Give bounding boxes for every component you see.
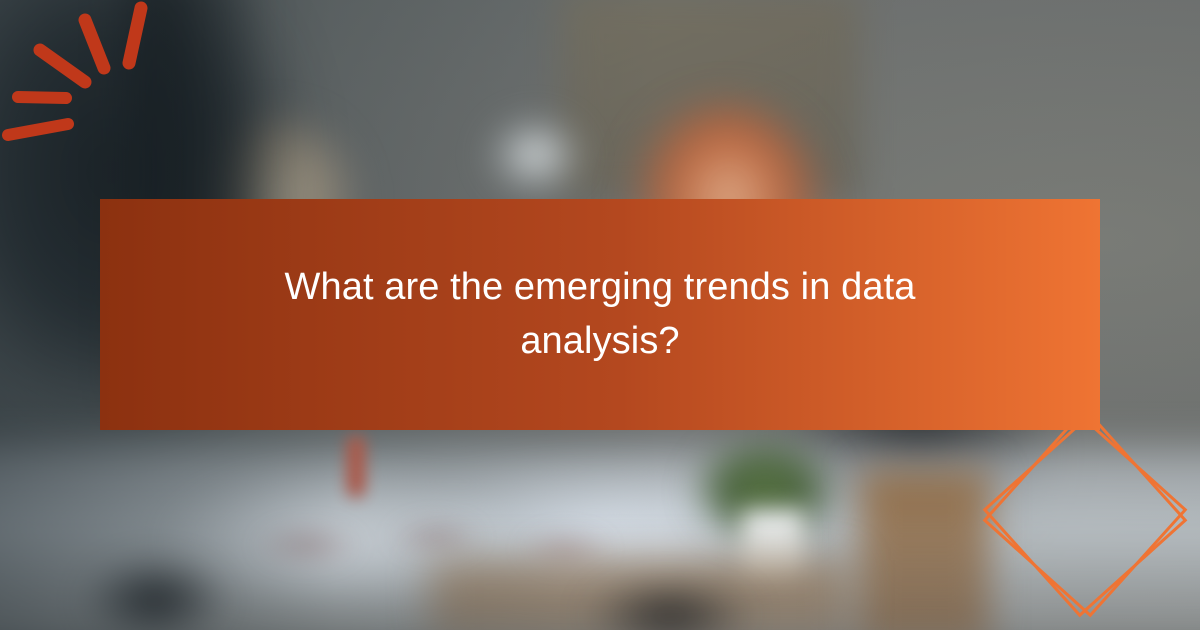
decor-square-2 — [985, 415, 1186, 616]
sparkle-stroke-3 — [40, 50, 85, 82]
social-card: What are the emerging trends in data ana… — [0, 0, 1200, 630]
decor-square-1 — [985, 415, 1186, 616]
sparkle-strokes — [8, 8, 141, 135]
page-title: What are the emerging trends in data ana… — [255, 261, 945, 369]
sparkle-burst-icon — [0, 0, 200, 170]
overlapping-squares-icon — [970, 400, 1200, 630]
sparkle-stroke-5 — [8, 124, 68, 135]
headline-banner: What are the emerging trends in data ana… — [100, 199, 1100, 430]
sparkle-stroke-1 — [129, 8, 141, 63]
sparkle-stroke-4 — [18, 97, 66, 98]
sparkle-stroke-2 — [85, 20, 104, 68]
